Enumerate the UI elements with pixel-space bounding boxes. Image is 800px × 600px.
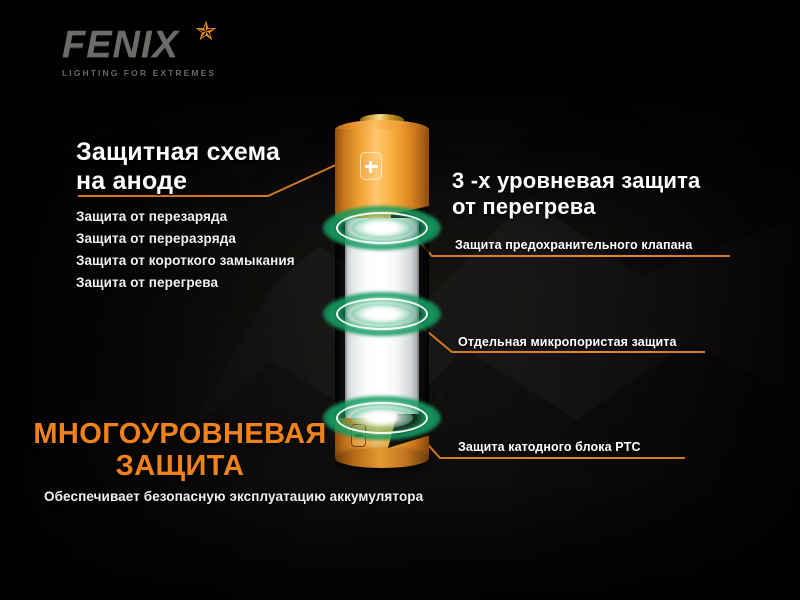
plus-icon — [360, 152, 382, 180]
battery-left-shading — [335, 218, 347, 436]
left-heading: Защитная схема на аноде — [76, 138, 280, 196]
battery-illustration — [333, 118, 431, 466]
list-item: Защита от короткого замыкания — [76, 250, 295, 272]
battery-upper-shell — [335, 129, 429, 221]
main-headline-line2: ЗАЩИТА — [0, 450, 360, 482]
battery-white-label — [345, 218, 419, 436]
list-item: Защита от перезаряда — [76, 206, 295, 228]
callout-rule-microporous — [452, 351, 706, 353]
callout-label-microporous: Отдельная микропористая защита — [458, 335, 677, 349]
main-headline-line1: МНОГОУРОВНЕВАЯ — [0, 418, 360, 450]
left-heading-line1: Защитная схема — [76, 138, 280, 167]
callout-rule-safety-valve — [433, 255, 731, 257]
left-heading-line2: на аноде — [76, 167, 280, 196]
left-feature-list: Защита от перезаряда Защита от переразря… — [76, 206, 295, 293]
right-heading-line2: от перегрева — [452, 194, 701, 220]
list-item: Защита от перегрева — [76, 272, 295, 294]
list-item: Защита от переразряда — [76, 228, 295, 250]
callout-rule-ptc-cathode — [440, 457, 686, 459]
right-heading: 3 -х уровневая защита от перегрева — [452, 168, 701, 220]
promo-infographic: FENIX ✯ LIGHTING FOR EXTREMES — [0, 0, 800, 600]
callout-label-safety-valve: Защита предохранительного клапана — [455, 238, 692, 252]
main-headline: МНОГОУРОВНЕВАЯ ЗАЩИТА — [0, 418, 360, 483]
battery-right-shading — [417, 218, 429, 436]
callout-label-ptc-cathode: Защита катодного блока PTC — [458, 440, 641, 454]
right-heading-line1: 3 -х уровневая защита — [452, 168, 701, 194]
headline-subtitle: Обеспечивает безопасную эксплуатацию акк… — [44, 489, 423, 504]
